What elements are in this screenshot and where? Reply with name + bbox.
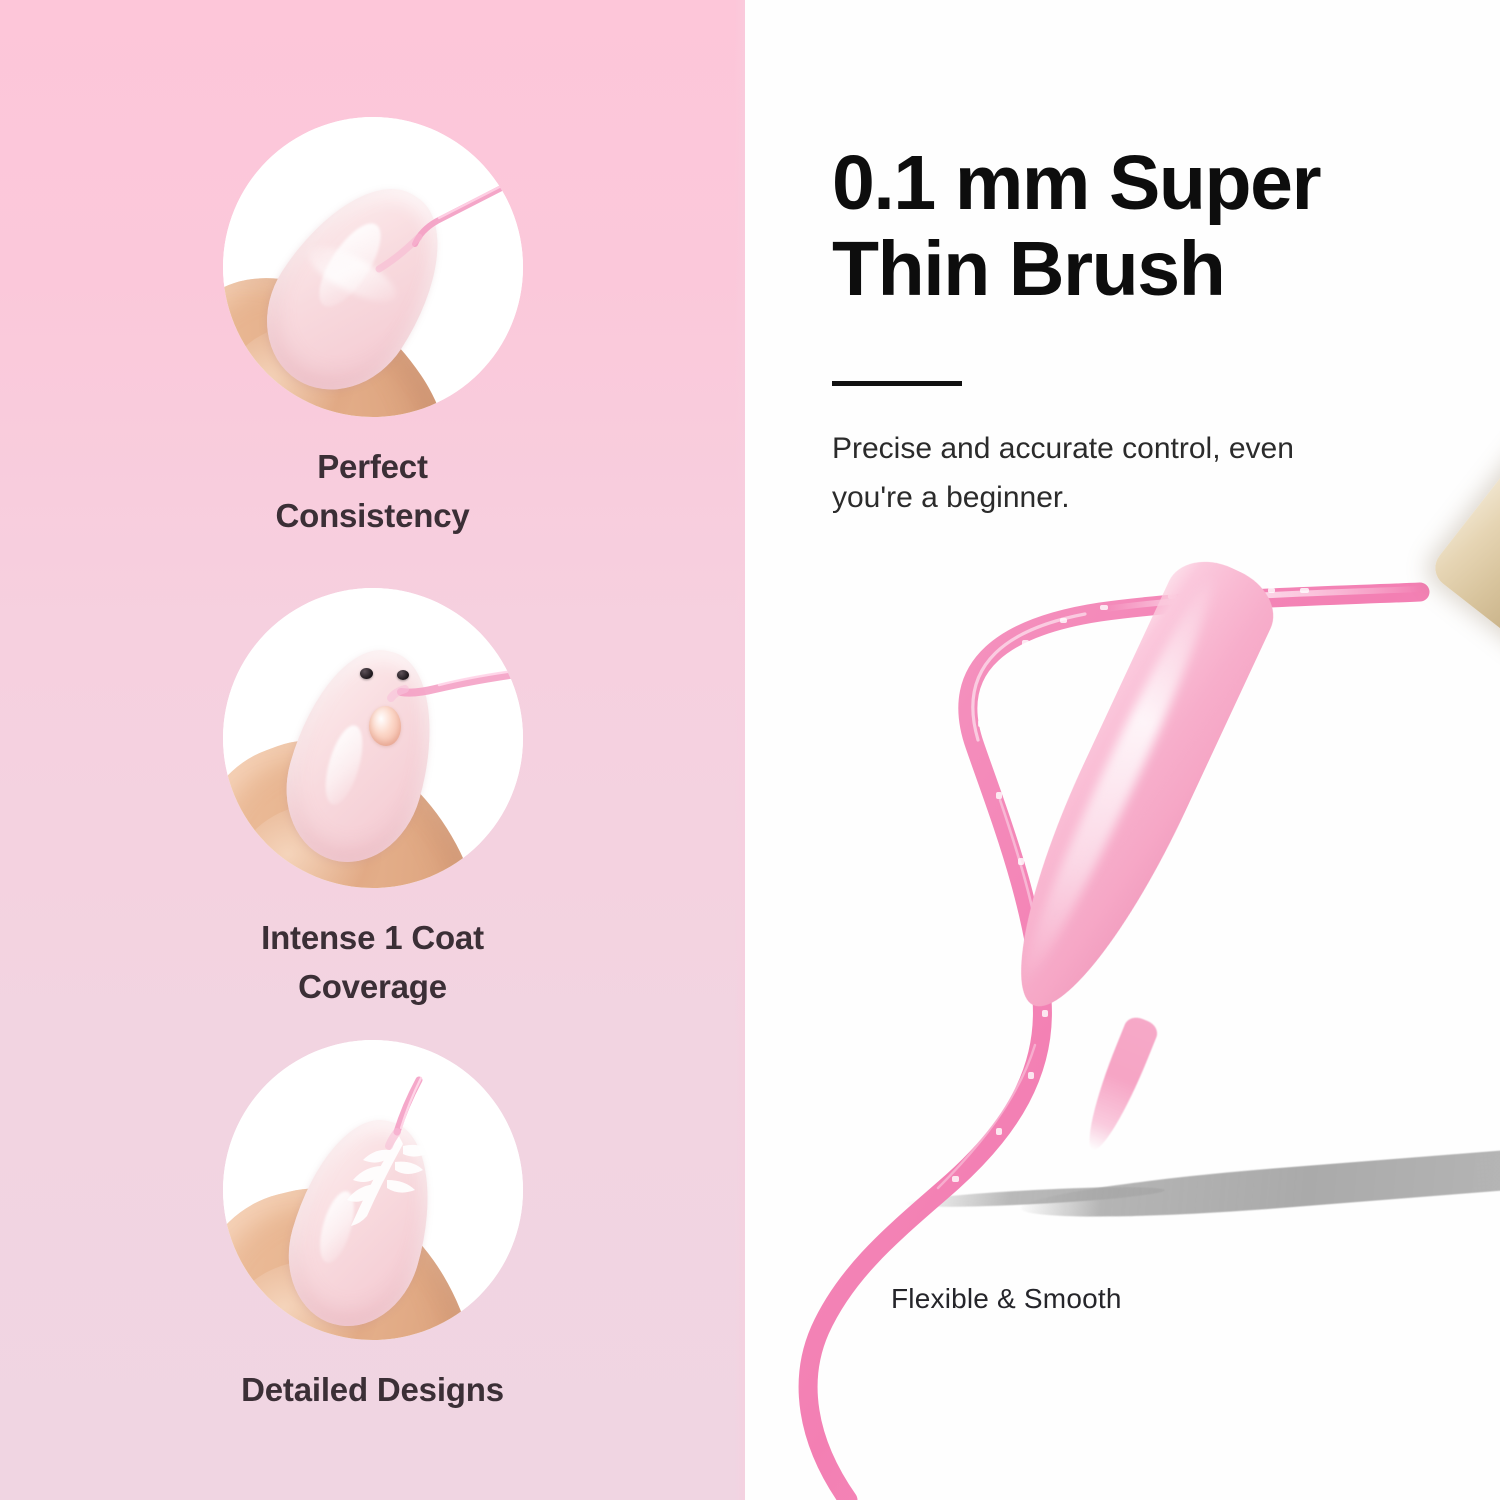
title-divider — [832, 381, 962, 386]
feature-image-detailed-designs — [223, 1040, 523, 1340]
brush-caption: Flexible & Smooth — [891, 1283, 1122, 1315]
page-title: 0.1 mm SuperThin Brush — [832, 140, 1472, 312]
feature-label-1: PerfectConsistency — [0, 443, 745, 541]
nail-art-dot — [397, 670, 409, 680]
feature-image-intense-coverage — [223, 588, 523, 888]
gel-blob — [369, 706, 401, 746]
feature-item-detailed-designs: Detailed Designs — [0, 1040, 745, 1415]
feature-image-perfect-consistency — [223, 117, 523, 417]
nail-photo-1 — [223, 117, 523, 417]
feature-item-intense-coverage: Intense 1 CoatCoverage — [0, 588, 745, 1012]
hero-subtitle: Precise and accurate control, evenyou're… — [832, 425, 1392, 522]
nail-photo-2 — [223, 588, 523, 888]
product-feature-graphic: PerfectConsistency — [0, 0, 1500, 1500]
features-panel: PerfectConsistency — [0, 0, 745, 1500]
nail-art-dot — [360, 668, 373, 679]
feature-label-3: Detailed Designs — [0, 1366, 745, 1415]
feature-label-2: Intense 1 CoatCoverage — [0, 914, 745, 1012]
nail-photo-3 — [223, 1040, 523, 1340]
feature-item-perfect-consistency: PerfectConsistency — [0, 117, 745, 541]
